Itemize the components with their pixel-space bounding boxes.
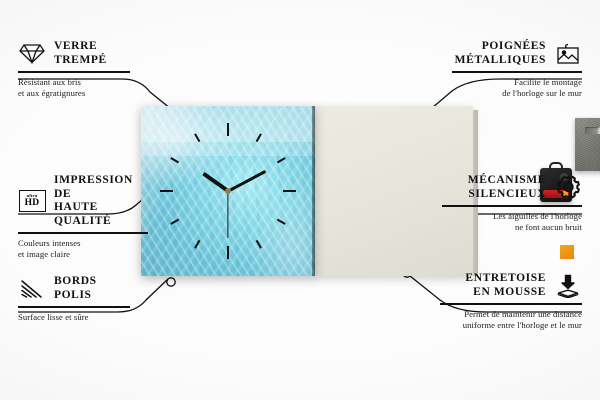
hour-marker	[227, 246, 229, 259]
divider	[442, 205, 582, 206]
callout-title: IMPRESSION DE HAUTE QUALITÉ	[54, 174, 148, 228]
hour-marker	[256, 240, 262, 249]
gear-icon	[554, 176, 582, 200]
picture-hanger-icon	[554, 42, 582, 66]
hour-marker	[194, 240, 200, 249]
divider	[452, 71, 582, 72]
callout-title: ENTRETOISE EN MOUSSE	[465, 272, 546, 299]
diamond-icon	[18, 42, 46, 66]
clock-front-panel	[141, 106, 315, 276]
product-feature-infographic: VERRE TREMPÉ Résistant aux bris et aux é…	[0, 0, 600, 400]
callout-verre-trempe: VERRE TREMPÉ Résistant aux bris et aux é…	[18, 40, 130, 99]
callout-subtitle: Facilite le montage de l'horloge sur le …	[452, 77, 582, 100]
divider	[18, 306, 130, 307]
callout-title: POIGNÉES MÉTALLIQUES	[455, 40, 546, 67]
callout-subtitle: Résistant aux bris et aux égratignures	[18, 77, 130, 100]
second-hand	[227, 191, 228, 238]
metal-hanger-plate	[575, 118, 600, 171]
callout-subtitle: Surface lisse et sûre	[18, 312, 130, 323]
glass-edge	[312, 106, 315, 276]
clock-face	[141, 106, 315, 276]
callout-subtitle: Couleurs intenses et image claire	[18, 238, 148, 261]
hour-marker	[160, 190, 173, 192]
divider	[440, 303, 582, 304]
foam-spacer-icon	[554, 274, 582, 298]
callout-impression-haute-qualite: ultra HD IMPRESSION DE HAUTE QUALITÉ Cou…	[18, 174, 148, 260]
hd-label: HD	[25, 199, 40, 209]
product-image	[141, 106, 473, 276]
callout-subtitle: Les aiguilles de l'horloge ne font aucun…	[442, 211, 582, 234]
minute-hand	[227, 170, 265, 192]
hanger-slot	[585, 127, 600, 134]
hand-center-cap	[225, 188, 231, 194]
hour-marker	[277, 157, 286, 163]
hour-marker	[283, 190, 296, 192]
diagonal-lines-icon	[18, 277, 46, 301]
callout-bords-polis: BORDS POLIS Surface lisse et sûre	[18, 275, 130, 323]
hour-marker	[194, 133, 200, 142]
hour-marker	[256, 133, 262, 142]
callout-subtitle: Permet de maintenir une distance uniform…	[440, 309, 582, 332]
callout-mecanisme-silencieux: MÉCANISME SILENCIEUX Les aiguilles de l'…	[442, 174, 582, 233]
callout-title: MÉCANISME SILENCIEUX	[468, 174, 546, 201]
foam-spacer	[560, 245, 574, 259]
callout-poignees-metalliques: POIGNÉES MÉTALLIQUES Facilite le montage…	[452, 40, 582, 99]
divider	[18, 232, 148, 233]
hour-marker	[170, 157, 179, 163]
callout-title: VERRE TREMPÉ	[54, 40, 107, 67]
callout-entretoise-en-mousse: ENTRETOISE EN MOUSSE Permet de maintenir…	[440, 272, 582, 331]
hour-marker	[227, 123, 229, 136]
hour-marker	[170, 219, 179, 225]
mechanism-hook	[549, 162, 563, 171]
callout-title: BORDS POLIS	[54, 275, 97, 302]
ultra-hd-icon: ultra HD	[18, 189, 46, 213]
hour-marker	[277, 219, 286, 225]
divider	[18, 71, 130, 72]
